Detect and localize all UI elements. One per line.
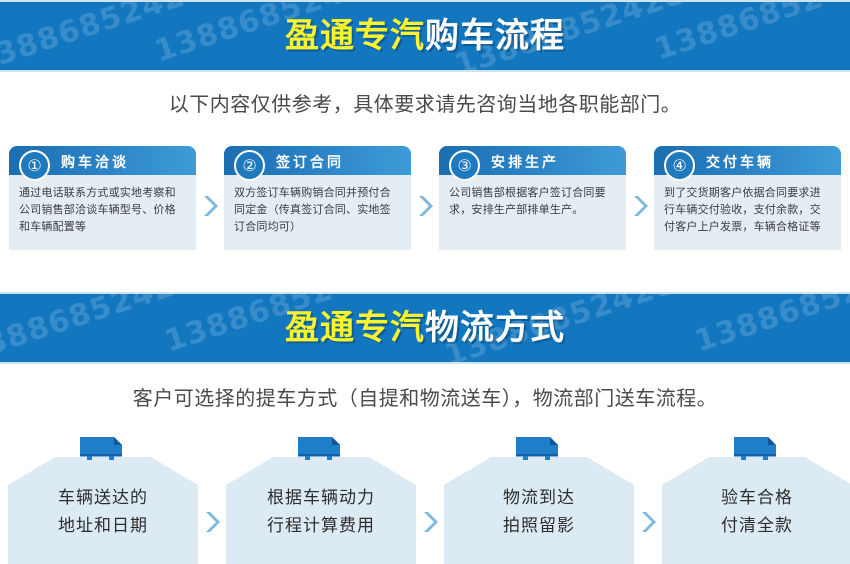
- step-title: 安排生产: [491, 152, 559, 172]
- truck-icon: [78, 435, 128, 461]
- purchase-steps-row: ① 购车洽谈 通过电话联系方式或实地考察和公司销售部洽谈车辆型号、价格和车辆配置…: [9, 146, 841, 250]
- logistics-card-line1: 根据车辆动力: [226, 484, 416, 512]
- logistics-card-text: 物流到达 拍照留影: [444, 484, 634, 540]
- banner-title: 盈通专汽购车流程: [0, 19, 850, 53]
- step-card-1[interactable]: ① 购车洽谈 通过电话联系方式或实地考察和公司销售部洽谈车辆型号、价格和车辆配置…: [9, 146, 196, 250]
- subtitle-purchase-note: 以下内容仅供参考，具体要求请先咨询当地各职能部门。: [0, 88, 850, 117]
- banner-rest-text: 物流方式: [425, 308, 565, 348]
- step-card-2[interactable]: ② 签订合同 双方签订车辆购销合同并预付合同定金（传真签订合同、实地签订合同均可…: [224, 146, 411, 250]
- logistics-card-3[interactable]: 物流到达 拍照留影: [444, 432, 634, 564]
- logistics-card-text: 验车合格 付清全款: [662, 484, 850, 540]
- step-body-text: 双方签订车辆购销合同并预付合同定金（传真签订合同、实地签订合同均可）: [224, 175, 411, 250]
- chevron-right-icon: [202, 194, 218, 218]
- banner-title: 盈通专汽物流方式: [0, 311, 850, 345]
- chevron-right-icon: [632, 194, 648, 218]
- logistics-card-line1: 验车合格: [662, 484, 850, 512]
- step-body-text: 公司销售部根据客户签订合同要求，安排生产部排单生产。: [439, 175, 626, 250]
- step-title: 签订合同: [276, 152, 344, 172]
- truck-icon: [732, 435, 782, 461]
- step-number-badge: ②: [234, 150, 265, 181]
- truck-icon: [514, 435, 564, 461]
- chevron-right-icon: [422, 510, 438, 534]
- banner-brand-text: 盈通专汽: [285, 308, 425, 348]
- step-number-badge: ③: [449, 150, 480, 181]
- logistics-card-1[interactable]: 车辆送达的 地址和日期: [8, 432, 198, 564]
- step-body-text: 到了交货期客户依据合同要求进行车辆交付验收，支付余款，交付客户上户发票，车辆合格…: [654, 175, 841, 250]
- logistics-card-text: 根据车辆动力 行程计算费用: [226, 484, 416, 540]
- logistics-card-text: 车辆送达的 地址和日期: [8, 484, 198, 540]
- logistics-card-4[interactable]: 验车合格 付清全款: [662, 432, 850, 564]
- banner-logistics: 13886852428 13886852428 13886852428 1388…: [0, 292, 850, 364]
- logistics-card-line1: 物流到达: [444, 484, 634, 512]
- truck-icon: [296, 435, 346, 461]
- step-card-4[interactable]: ④ 交付车辆 到了交货期客户依据合同要求进行车辆交付验收，支付余款，交付客户上户…: [654, 146, 841, 250]
- logistics-card-line1: 车辆送达的: [8, 484, 198, 512]
- logistics-card-line2: 付清全款: [662, 512, 850, 540]
- step-card-3[interactable]: ③ 安排生产 公司销售部根据客户签订合同要求，安排生产部排单生产。: [439, 146, 626, 250]
- banner-brand-text: 盈通专汽: [285, 16, 425, 56]
- logistics-card-2[interactable]: 根据车辆动力 行程计算费用: [226, 432, 416, 564]
- banner-rest-text: 购车流程: [425, 16, 565, 56]
- logistics-card-line2: 行程计算费用: [226, 512, 416, 540]
- chevron-right-icon: [417, 194, 433, 218]
- step-number-badge: ①: [19, 150, 50, 181]
- logistics-steps-row: 车辆送达的 地址和日期 根据车辆动力 行程计算费用: [8, 432, 842, 564]
- step-number-badge: ④: [664, 150, 695, 181]
- logistics-card-line2: 拍照留影: [444, 512, 634, 540]
- chevron-right-icon: [640, 510, 656, 534]
- logistics-card-line2: 地址和日期: [8, 512, 198, 540]
- banner-purchase-process: 13886852428 13886852428 13886852428 1388…: [0, 0, 850, 72]
- page-root: 13886852428 13886852428 13886852428 1388…: [0, 0, 850, 564]
- step-body-text: 通过电话联系方式或实地考察和公司销售部洽谈车辆型号、价格和车辆配置等: [9, 175, 196, 250]
- step-title: 交付车辆: [706, 152, 774, 172]
- subtitle-logistics-note: 客户可选择的提车方式（自提和物流送车），物流部门送车流程。: [0, 382, 850, 411]
- step-title: 购车洽谈: [61, 152, 129, 172]
- chevron-right-icon: [204, 510, 220, 534]
